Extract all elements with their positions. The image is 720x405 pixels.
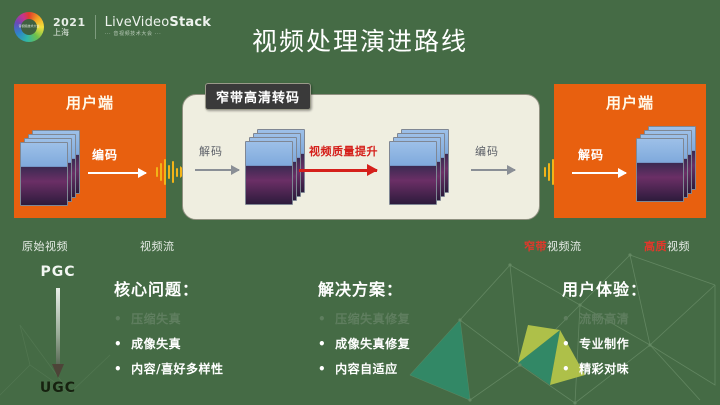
bullet-glyph: •: [318, 363, 326, 375]
caption-original-video: 原始视频: [22, 238, 68, 254]
bullet-glyph: •: [318, 338, 326, 350]
left-client-box: 用户端 编码: [14, 84, 166, 218]
caption-narrowband-highlight: 窄带: [524, 240, 547, 253]
bullet-glyph: •: [114, 338, 122, 350]
caption-highquality-video: 高质视频: [644, 238, 690, 254]
column-user-experience: 用户体验： •流畅高清 •专业制作 •精彩对味: [562, 276, 720, 385]
list-item: •内容自适应: [318, 360, 518, 377]
bullet-glyph: •: [114, 363, 122, 375]
quality-improve-arrow: [299, 169, 377, 172]
left-encode-arrow: [88, 172, 146, 174]
left-encode-label: 编码: [92, 146, 118, 163]
page-title: 视频处理演进路线: [0, 22, 720, 58]
list-item-label: 成像失真: [131, 335, 181, 352]
list-item: •成像失真: [114, 335, 304, 352]
axis-label-ugc: UGC: [22, 380, 94, 396]
transcode-badge: 窄带高清转码: [205, 83, 311, 110]
column-solutions: 解决方案： •压缩失真修复 •成像失真修复 •内容自适应: [318, 276, 518, 385]
bullet-glyph: •: [562, 313, 570, 325]
list-item: •流畅高清: [562, 310, 720, 327]
transcode-output-film-icon: [389, 129, 447, 203]
list-item-label: 内容/喜好多样性: [131, 360, 223, 377]
caption-highquality-highlight: 高质: [644, 240, 667, 253]
axis-bar: [56, 288, 60, 372]
pipeline-diagram: 用户端 编码 窄带高清转码 解码: [14, 84, 706, 236]
right-decode-arrow: [572, 172, 626, 174]
transcode-encode-arrow: [471, 169, 515, 171]
list-item: •压缩失真修复: [318, 310, 518, 327]
left-client-title: 用户端: [14, 92, 166, 113]
pgc-ugc-axis: PGC UGC: [22, 264, 94, 396]
quality-improve-label: 视频质量提升: [309, 143, 378, 159]
axis-arrow-tip-icon: [52, 364, 64, 378]
transcode-decode-arrow: [195, 169, 239, 171]
list-item: •成像失真修复: [318, 335, 518, 352]
list-item-label: 精彩对味: [579, 360, 629, 377]
bullet-glyph: •: [114, 313, 122, 325]
transcode-input-film-icon: [245, 129, 303, 203]
column-core-problems: 核心问题： •压缩失真 •成像失真 •内容/喜好多样性: [114, 276, 304, 385]
transcode-box: 窄带高清转码 解码 视频质量提升 编码: [182, 94, 540, 220]
transcode-decode-label: 解码: [199, 143, 223, 159]
left-film-stack-icon: [20, 130, 78, 204]
caption-narrowband-rest: 视频流: [547, 240, 582, 253]
right-film-stack-icon: [636, 126, 694, 200]
bullet-glyph: •: [562, 363, 570, 375]
list-item: •专业制作: [562, 335, 720, 352]
column-list: •压缩失真修复 •成像失真修复 •内容自适应: [318, 310, 518, 377]
caption-video-stream: 视频流: [140, 238, 175, 254]
bullet-glyph: •: [318, 313, 326, 325]
list-item-label: 内容自适应: [335, 360, 398, 377]
axis-label-pgc: PGC: [22, 264, 94, 280]
slide-canvas: 音视频技术大会 2021 上海 LiveVideoStack ··· 音视频技术…: [0, 0, 720, 405]
column-heading: 用户体验：: [562, 276, 720, 300]
column-heading: 解决方案：: [318, 276, 518, 300]
right-client-title: 用户端: [554, 92, 706, 113]
list-item: •压缩失真: [114, 310, 304, 327]
right-decode-label: 解码: [578, 146, 604, 163]
list-item-label: 压缩失真: [131, 310, 181, 327]
column-list: •流畅高清 •专业制作 •精彩对味: [562, 310, 720, 377]
transcode-encode-label: 编码: [475, 143, 499, 159]
column-heading: 核心问题：: [114, 276, 304, 300]
list-item: •内容/喜好多样性: [114, 360, 304, 377]
right-client-box: 用户端 解码: [554, 84, 706, 218]
caption-narrowband-stream: 窄带视频流: [524, 238, 582, 254]
list-item-label: 成像失真修复: [335, 335, 410, 352]
caption-highquality-rest: 视频: [667, 240, 690, 253]
list-item: •精彩对味: [562, 360, 720, 377]
list-item-label: 专业制作: [579, 335, 629, 352]
column-list: •压缩失真 •成像失真 •内容/喜好多样性: [114, 310, 304, 377]
logo-ring-text: 音视频技术大会: [18, 25, 39, 28]
list-item-label: 流畅高清: [579, 310, 629, 327]
bullet-glyph: •: [562, 338, 570, 350]
list-item-label: 压缩失真修复: [335, 310, 410, 327]
